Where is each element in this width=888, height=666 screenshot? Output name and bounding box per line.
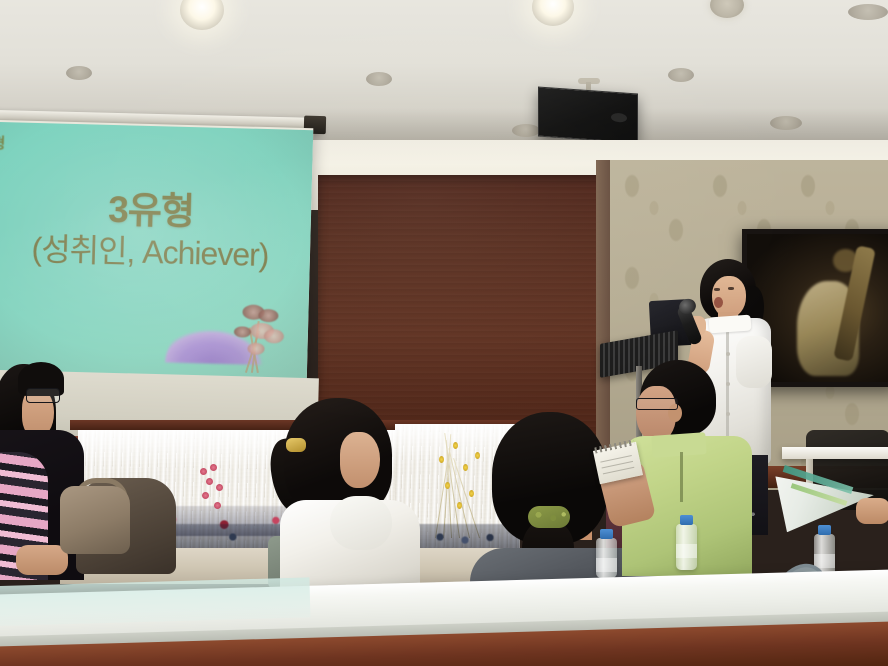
audience-center-face bbox=[340, 432, 380, 488]
bottle-cap bbox=[600, 529, 613, 539]
presenter-sleeve bbox=[736, 336, 772, 388]
ceiling-vent-icon bbox=[770, 116, 802, 130]
presenter-collar bbox=[708, 315, 751, 334]
projection-screen: 습형 3유형 (성취인, Achiever) bbox=[0, 120, 313, 386]
hair-clip-icon bbox=[286, 438, 306, 452]
bottle-cap bbox=[680, 515, 693, 525]
presentation-slide: 습형 3유형 (성취인, Achiever) bbox=[0, 122, 313, 382]
ceiling-vent-icon bbox=[512, 124, 540, 137]
ceiling-speaker-icon bbox=[538, 87, 638, 144]
eyeglasses-icon bbox=[636, 398, 678, 410]
presenter-mouth bbox=[714, 297, 723, 308]
presenter-blouse-button bbox=[726, 352, 730, 356]
audience-left-arm bbox=[16, 545, 68, 575]
water-bottle bbox=[676, 524, 697, 570]
water-bottle bbox=[596, 538, 617, 578]
ceiling-vent-icon bbox=[66, 66, 92, 80]
note-taker-collar bbox=[651, 432, 706, 458]
alcove-orchid-stem bbox=[198, 464, 232, 522]
hair-scrunchie-icon bbox=[528, 506, 570, 528]
hand-holding-flyer bbox=[856, 498, 888, 524]
presenter-blouse-button bbox=[726, 382, 730, 386]
notepad-line bbox=[603, 467, 635, 475]
presenter-blouse-button bbox=[726, 412, 730, 416]
audience-center-sleeve bbox=[330, 496, 392, 550]
presenter-eye bbox=[714, 288, 720, 291]
note-taker-placket bbox=[680, 452, 683, 502]
ceiling-vent-icon bbox=[668, 68, 694, 82]
bottle-label bbox=[676, 544, 697, 558]
slide-light-vignette bbox=[0, 122, 313, 382]
side-table bbox=[782, 447, 888, 459]
eyeglasses-icon bbox=[26, 388, 60, 403]
speaker-cone-icon bbox=[611, 113, 627, 123]
ceiling-vent-icon bbox=[366, 72, 392, 86]
handbag bbox=[60, 486, 130, 554]
ceiling-sprinkler-icon bbox=[848, 4, 888, 20]
bottle-label bbox=[596, 558, 617, 572]
presenter-eye bbox=[728, 287, 734, 290]
yellow-branch-arrangement bbox=[429, 430, 493, 538]
presentation-room-photo: 습형 3유형 (성취인, Achiever) bbox=[0, 0, 888, 666]
